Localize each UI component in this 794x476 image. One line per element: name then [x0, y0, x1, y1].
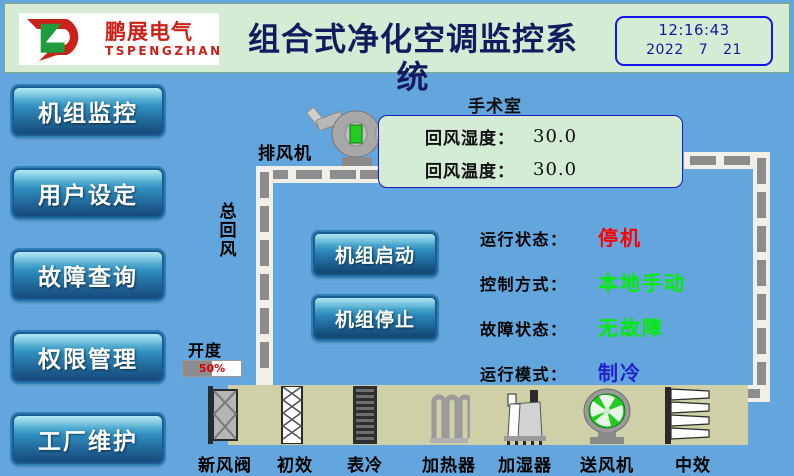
sidebar-item-permission-manage[interactable]: 权限管理	[12, 332, 164, 382]
logo-glyph-icon	[23, 15, 101, 63]
damper-gauge-value: 50%	[183, 361, 241, 376]
sidebar-item-factory-maintenance[interactable]: 工厂维护	[12, 414, 164, 464]
control-mode-value: 本地手动	[598, 267, 686, 296]
return-humidity-value: 30.0	[533, 126, 577, 147]
return-air-char-3: 风	[218, 241, 238, 260]
logo-text: 鹏展电气 TSPENGZHAN	[105, 21, 223, 58]
fresh-air-damper-icon	[205, 386, 245, 444]
status-row-fault-state: 故障状态： 无故障	[480, 312, 730, 341]
return-temperature-label: 回风温度：	[425, 157, 533, 182]
exhaust-fan-label: 排风机	[258, 139, 312, 164]
run-state-value: 停机	[598, 222, 642, 251]
sidebar-item-user-settings[interactable]: 用户设定	[12, 168, 164, 218]
status-row-run-state: 运行状态： 停机	[480, 222, 730, 251]
fault-state-label: 故障状态：	[480, 316, 598, 340]
run-mode-label: 运行模式：	[480, 361, 598, 385]
return-air-char-2: 回	[218, 222, 238, 241]
room-readout-panel: 回风湿度： 30.0 回风温度： 30.0	[378, 115, 683, 188]
equipment-label-humidifier: 加湿器	[486, 451, 564, 476]
return-air-label: 总 回 风	[218, 203, 238, 260]
equipment-label-cooling-coil: 表冷	[326, 451, 404, 476]
run-mode-value: 制冷	[598, 357, 642, 386]
status-panel: 运行状态： 停机 控制方式： 本地手动 故障状态： 无故障 运行模式： 制冷	[480, 222, 730, 402]
primary-filter-icon	[281, 386, 303, 444]
equipment-label-medium-filter: 中效	[654, 451, 732, 476]
company-logo: 鹏展电气 TSPENGZHAN	[19, 13, 219, 65]
unit-start-button[interactable]: 机组启动	[313, 232, 437, 276]
logo-text-en: TSPENGZHAN	[105, 44, 223, 58]
status-row-run-mode: 运行模式： 制冷	[480, 357, 730, 386]
equipment-label-fresh-air-damper: 新风阀	[186, 451, 264, 476]
equipment-label-supply-fan: 送风机	[568, 451, 646, 476]
clock-display: 12:16:43 2022 7 21	[615, 16, 773, 66]
clock-month: 7	[699, 42, 708, 58]
heater-icon	[428, 388, 470, 444]
return-humidity-label: 回风湿度：	[425, 124, 533, 149]
unit-stop-label: 机组停止	[335, 305, 415, 332]
header-bar: 鹏展电气 TSPENGZHAN 组合式净化空调监控系统 12:16:43 202…	[4, 3, 790, 73]
equipment-label-primary-filter: 初效	[256, 451, 334, 476]
hmi-screen: 鹏展电气 TSPENGZHAN 组合式净化空调监控系统 12:16:43 202…	[0, 0, 794, 476]
damper-opening-label: 开度	[188, 337, 222, 361]
sidebar-item-label: 机组监控	[38, 94, 138, 128]
cooling-coil-icon	[353, 386, 377, 444]
clock-date: 2022 7 21	[617, 41, 771, 60]
control-mode-label: 控制方式：	[480, 271, 598, 295]
sidebar-item-label: 故障查询	[38, 258, 138, 292]
page-title: 组合式净化空调监控系统	[233, 20, 593, 96]
room-readout-row: 回风湿度： 30.0	[379, 124, 682, 149]
clock-year: 2022	[646, 42, 684, 58]
sidebar-nav: 机组监控 用户设定 故障查询 权限管理 工厂维护	[0, 78, 186, 476]
equipment-label-heater: 加热器	[410, 451, 488, 476]
clock-day: 21	[723, 42, 742, 58]
status-row-control-mode: 控制方式： 本地手动	[480, 267, 730, 296]
room-title: 手术室	[468, 92, 522, 117]
sidebar-item-label: 工厂维护	[38, 422, 138, 456]
duct-left-vertical	[256, 166, 273, 388]
sidebar-item-label: 用户设定	[38, 176, 138, 210]
sidebar-item-fault-query[interactable]: 故障查询	[12, 250, 164, 300]
clock-time: 12:16:43	[617, 20, 771, 41]
supply-fan-icon	[578, 387, 636, 445]
return-air-char-1: 总	[218, 203, 238, 222]
room-readout-row: 回风温度： 30.0	[379, 157, 682, 182]
fault-state-value: 无故障	[598, 312, 664, 341]
unit-stop-button[interactable]: 机组停止	[313, 296, 437, 340]
unit-start-label: 机组启动	[335, 241, 415, 268]
run-state-label: 运行状态：	[480, 226, 598, 250]
medium-filter-icon	[665, 387, 721, 444]
return-temperature-value: 30.0	[533, 159, 577, 180]
duct-right-vertical	[753, 152, 770, 402]
damper-opening-gauge[interactable]: 50%	[182, 360, 242, 377]
humidifier-icon	[500, 388, 550, 445]
sidebar-item-unit-monitor[interactable]: 机组监控	[12, 86, 164, 136]
sidebar-item-label: 权限管理	[38, 340, 138, 374]
logo-mark-icon	[23, 15, 101, 63]
logo-text-cn: 鹏展电气	[105, 21, 223, 43]
